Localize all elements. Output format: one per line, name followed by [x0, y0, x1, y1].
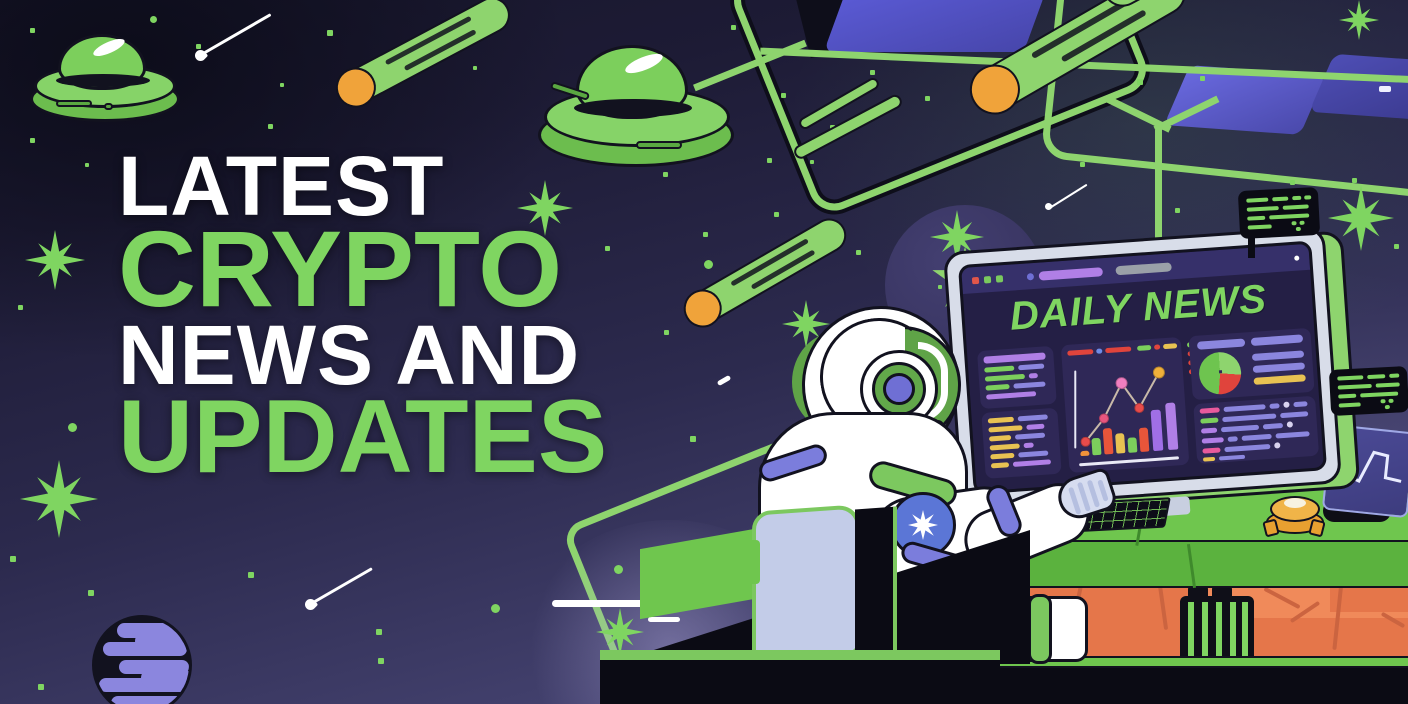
terminal-bottom-right[interactable]: [1329, 366, 1408, 416]
market-volume-bars: [1077, 397, 1184, 456]
browser-tab-icon: [1027, 273, 1034, 280]
badge-star-icon: [908, 510, 938, 540]
market-chart-card[interactable]: [1061, 337, 1190, 473]
headline-line-2: CRYPTO: [118, 219, 607, 318]
green-comet-top-left: [332, 0, 517, 112]
browser-menu-dot[interactable]: [1294, 255, 1299, 260]
window-pane-left: [824, 0, 1047, 52]
browser-dot-red[interactable]: [972, 276, 979, 283]
headline: LATEST CRYPTO NEWS AND UPDATES: [118, 148, 607, 486]
portfolio-pie-card[interactable]: [1188, 328, 1314, 400]
bottle-icon: [1180, 586, 1254, 664]
white-comet-center: [1048, 200, 1098, 216]
news-feed-card[interactable]: [1193, 396, 1319, 464]
white-comet-bottom-left: [308, 594, 388, 614]
crypto-news-banner: LATEST CRYPTO NEWS AND UPDATES: [0, 0, 1408, 704]
white-streak-2: [648, 617, 680, 622]
chart-scrollbar[interactable]: [1079, 456, 1179, 466]
browser-dot-green-2[interactable]: [996, 275, 1003, 282]
terminal-top-right[interactable]: [1238, 187, 1320, 239]
ufo-icon-top-left: [30, 32, 180, 132]
browser-dot-green-1[interactable]: [984, 276, 991, 283]
white-comet-top: [198, 44, 288, 66]
browser-address-pill[interactable]: [1039, 267, 1103, 280]
browser-secondary-pill[interactable]: [1115, 262, 1171, 275]
terminal-top-right-stem: [1248, 236, 1255, 258]
headline-line-4: UPDATES: [118, 390, 607, 486]
white-streak-3: [717, 375, 732, 386]
chair-backrest: [752, 504, 860, 662]
